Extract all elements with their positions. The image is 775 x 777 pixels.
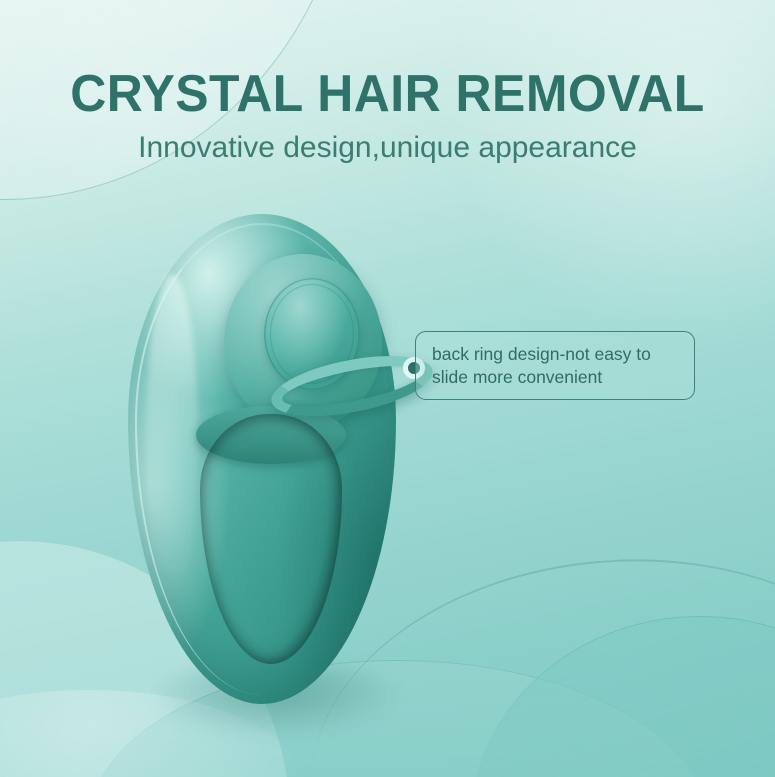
callout-line-2: slide more convenient xyxy=(432,367,602,387)
background-glow-top-right xyxy=(435,0,775,340)
page-subtitle: Innovative design,unique appearance xyxy=(0,133,775,163)
product-device xyxy=(128,214,396,704)
device-edge-highlight xyxy=(146,274,198,604)
callout-line-1: back ring design-not easy to xyxy=(432,344,651,364)
feature-callout-text: back ring design-not easy to slide more … xyxy=(432,343,651,389)
product-poster: CRYSTAL HAIR REMOVAL Innovative design,u… xyxy=(0,0,775,777)
page-title: CRYSTAL HAIR REMOVAL xyxy=(16,68,760,120)
feature-callout: back ring design-not easy to slide more … xyxy=(415,331,695,400)
